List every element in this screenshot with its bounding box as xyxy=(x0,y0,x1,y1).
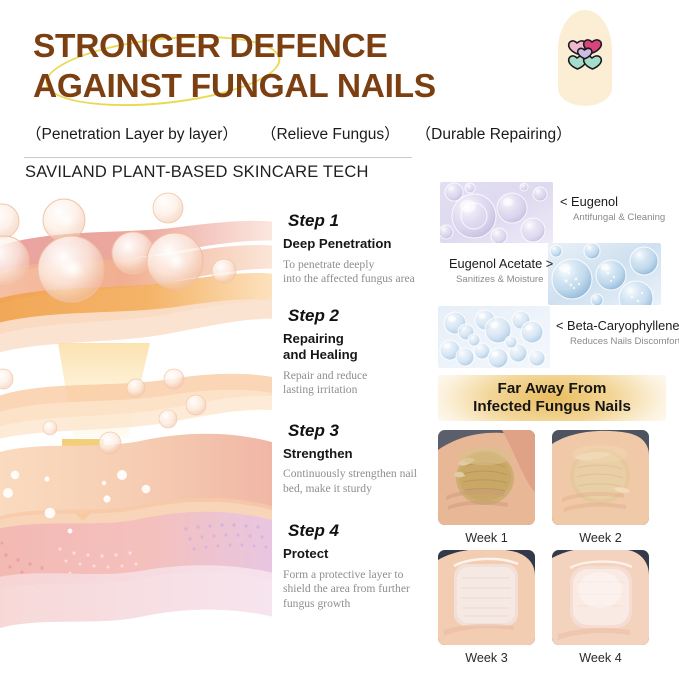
week1-label: Week 1 xyxy=(438,531,535,545)
step-1-tag: Step 1 xyxy=(283,210,348,231)
ingredient-3-label: Beta-Caryophyllene xyxy=(567,318,679,333)
step-item-2: Step 2 Repairingand Healing Repair and r… xyxy=(283,305,433,398)
progress-item-week3: Week 3 xyxy=(438,550,535,670)
ingredient-3-sub: Reduces Nails Discomfort xyxy=(570,336,679,347)
result-banner: Far Away From Infected Fungus Nails xyxy=(438,375,666,421)
week3-label: Week 3 xyxy=(438,651,535,665)
ingredient-1-marker: < xyxy=(560,194,567,209)
fungal-nail-week4-photo xyxy=(552,550,649,645)
step-2-tag: Step 2 xyxy=(283,305,348,326)
week4-label: Week 4 xyxy=(552,651,649,665)
ingredient-2-marker: > xyxy=(546,256,553,271)
ice-crystal-bubbles-image xyxy=(438,306,550,368)
step-item-4: Step 4 Protect Form a protective layer t… xyxy=(283,520,433,611)
step-3-tag: Step 3 xyxy=(283,420,348,441)
ingredient-1-name: < Eugenol xyxy=(560,194,618,209)
progress-row-1: Week 1 xyxy=(438,430,666,550)
skin-layers-svg xyxy=(0,183,272,679)
ingredient-2-sub: Sanitizes & Moisture xyxy=(456,274,543,285)
result-banner-text: Far Away From Infected Fungus Nails xyxy=(473,380,631,417)
brand-badge xyxy=(558,10,612,106)
flower-heart-icon xyxy=(566,34,604,78)
page-title: STRONGER DEFENCE AGAINST FUNGAL NAILS xyxy=(33,27,553,107)
step-4-tag: Step 4 xyxy=(283,520,348,541)
blue-water-bubbles-image xyxy=(548,243,661,305)
tech-tagline: SAVILAND PLANT-BASED SKINCARE TECH xyxy=(25,163,369,182)
ingredient-2-label: Eugenol Acetate xyxy=(449,256,542,271)
step-item-3: Step 3 Strengthen Continuously strengthe… xyxy=(283,420,433,497)
feature-relieve: （Relieve Fungus） xyxy=(261,122,400,144)
step-3-title: Strengthen xyxy=(283,446,433,463)
feature-row: （Penetration Layer by layer） （Relieve Fu… xyxy=(26,120,666,146)
feature-repairing: （Durable Repairing） xyxy=(416,122,572,144)
fungal-nail-week1-photo xyxy=(438,430,535,525)
ingredient-1-label: Eugenol xyxy=(571,194,618,209)
ingredient-3-name: < Beta-Caryophyllene xyxy=(556,318,679,333)
ingredient-2-name: Eugenol Acetate > xyxy=(449,256,553,271)
step-item-1: Step 1 Deep Penetration To penetrate dee… xyxy=(283,210,433,287)
progress-item-week1: Week 1 xyxy=(438,430,535,550)
step-1-desc: To penetrate deeplyinto the affected fun… xyxy=(283,258,433,287)
progress-row-2: Week 3 xyxy=(438,550,666,670)
banner-line-2: Infected Fungus Nails xyxy=(473,398,631,417)
title-line-2: AGAINST FUNGAL NAILS xyxy=(33,67,553,107)
feature-penetration: （Penetration Layer by layer） xyxy=(26,122,238,144)
step-4-desc: Form a protective layer toshield the are… xyxy=(283,568,433,612)
header-divider xyxy=(24,157,412,158)
fungal-nail-week3-photo xyxy=(438,550,535,645)
banner-line-1: Far Away From xyxy=(473,380,631,399)
ingredient-1-sub: Antifungal & Cleaning xyxy=(573,212,665,223)
title-line-1: STRONGER DEFENCE xyxy=(33,28,387,65)
progress-item-week4: Week 4 xyxy=(552,550,649,670)
step-2-desc: Repair and reducelasting irritation xyxy=(283,369,433,398)
fungal-nail-week2-photo xyxy=(552,430,649,525)
week2-label: Week 2 xyxy=(552,531,649,545)
infographic-page: STRONGER DEFENCE AGAINST FUNGAL NAILS （P… xyxy=(0,0,679,679)
ingredient-3-marker: < xyxy=(556,318,563,333)
progress-grid: Week 1 xyxy=(438,430,666,670)
step-3-desc: Continuously strengthen nailbed, make it… xyxy=(283,467,433,496)
step-1-title: Deep Penetration xyxy=(283,236,433,253)
steps-list: Step 1 Deep Penetration To penetrate dee… xyxy=(283,210,433,623)
progress-item-week2: Week 2 xyxy=(552,430,649,550)
lavender-bubbles-image xyxy=(440,182,553,243)
step-4-title: Protect xyxy=(283,546,433,563)
step-2-title: Repairingand Healing xyxy=(283,331,433,364)
skin-layer-penetration-diagram xyxy=(0,183,272,679)
